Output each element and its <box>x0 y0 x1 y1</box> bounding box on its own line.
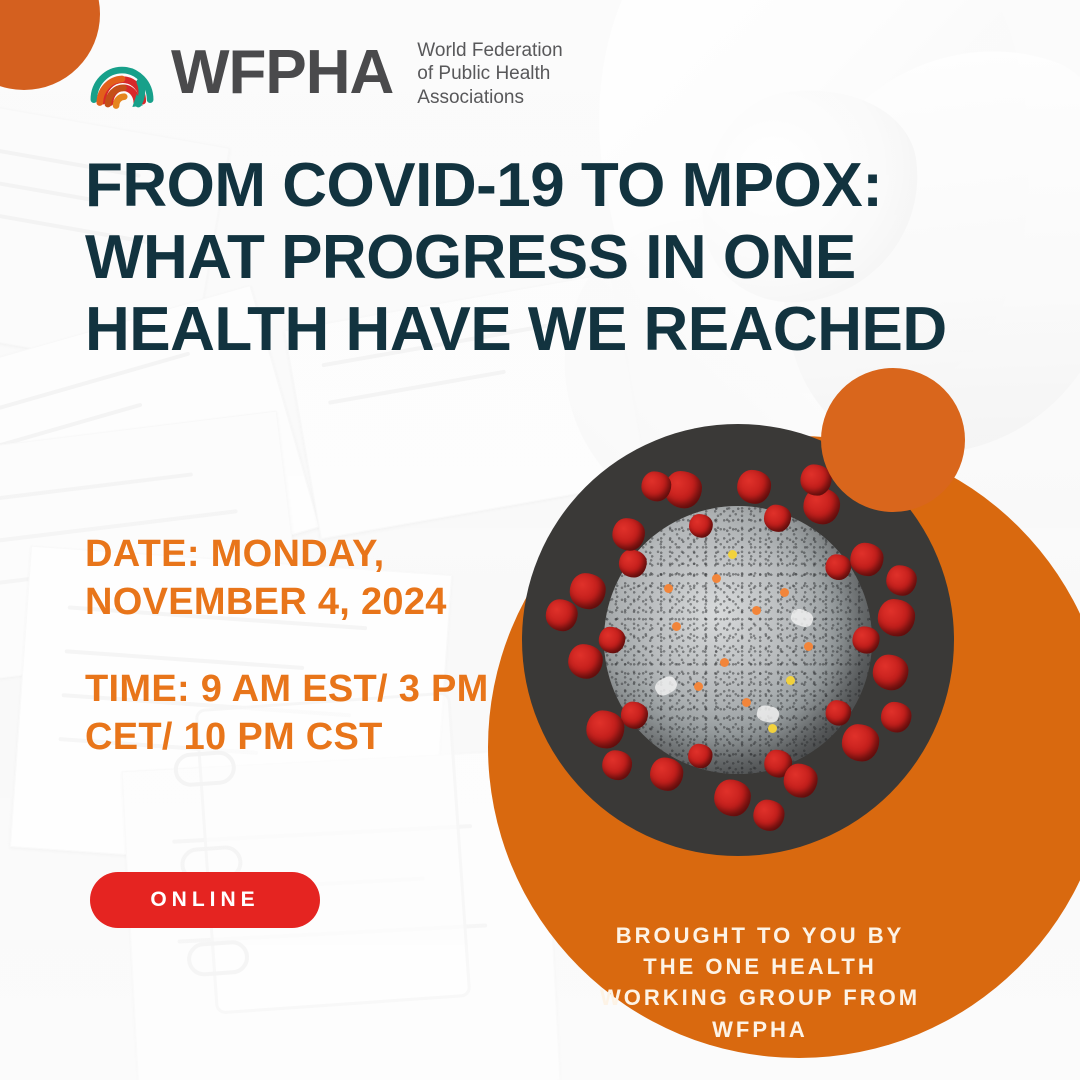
wfpha-logo[interactable]: WFPHA World Federation of Public Health … <box>85 36 563 110</box>
page-title: FROM COVID-19 TO MPOX: WHAT PROGRESS IN … <box>85 150 1025 366</box>
footer-line-2: THE ONE HEALTH <box>545 951 975 982</box>
virus-body <box>604 506 872 774</box>
virus-texture <box>604 506 872 774</box>
footer-line-3: WORKING GROUP FROM <box>545 982 975 1013</box>
event-details: DATE: MONDAY, NOVEMBER 4, 2024 TIME: 9 A… <box>85 530 505 761</box>
footer-credit: BROUGHT TO YOU BY THE ONE HEALTH WORKING… <box>545 920 975 1045</box>
status-badge: ONLINE <box>90 872 320 928</box>
footer-line-1: BROUGHT TO YOU BY <box>545 920 975 951</box>
footer-line-4: WFPHA <box>545 1014 975 1045</box>
wfpha-wordmark-text: WFPHA <box>171 38 393 107</box>
event-time: TIME: 9 AM EST/ 3 PM CET/ 10 PM CST <box>85 665 505 762</box>
small-orange-accent-circle <box>821 368 965 512</box>
wfpha-tagline: World Federation of Public Health Associ… <box>417 39 562 109</box>
wfpha-tagline-line1: World Federation <box>417 40 562 61</box>
webinar-announcement-poster: WFPHA World Federation of Public Health … <box>0 0 1080 1080</box>
wfpha-wordmark: WFPHA <box>171 42 393 104</box>
wfpha-tagline-line2: of Public Health <box>417 63 550 84</box>
event-date: DATE: MONDAY, NOVEMBER 4, 2024 <box>85 530 505 627</box>
wfpha-tagline-line3: Associations <box>417 87 524 108</box>
wfpha-fingerprint-logo-icon <box>85 36 159 110</box>
